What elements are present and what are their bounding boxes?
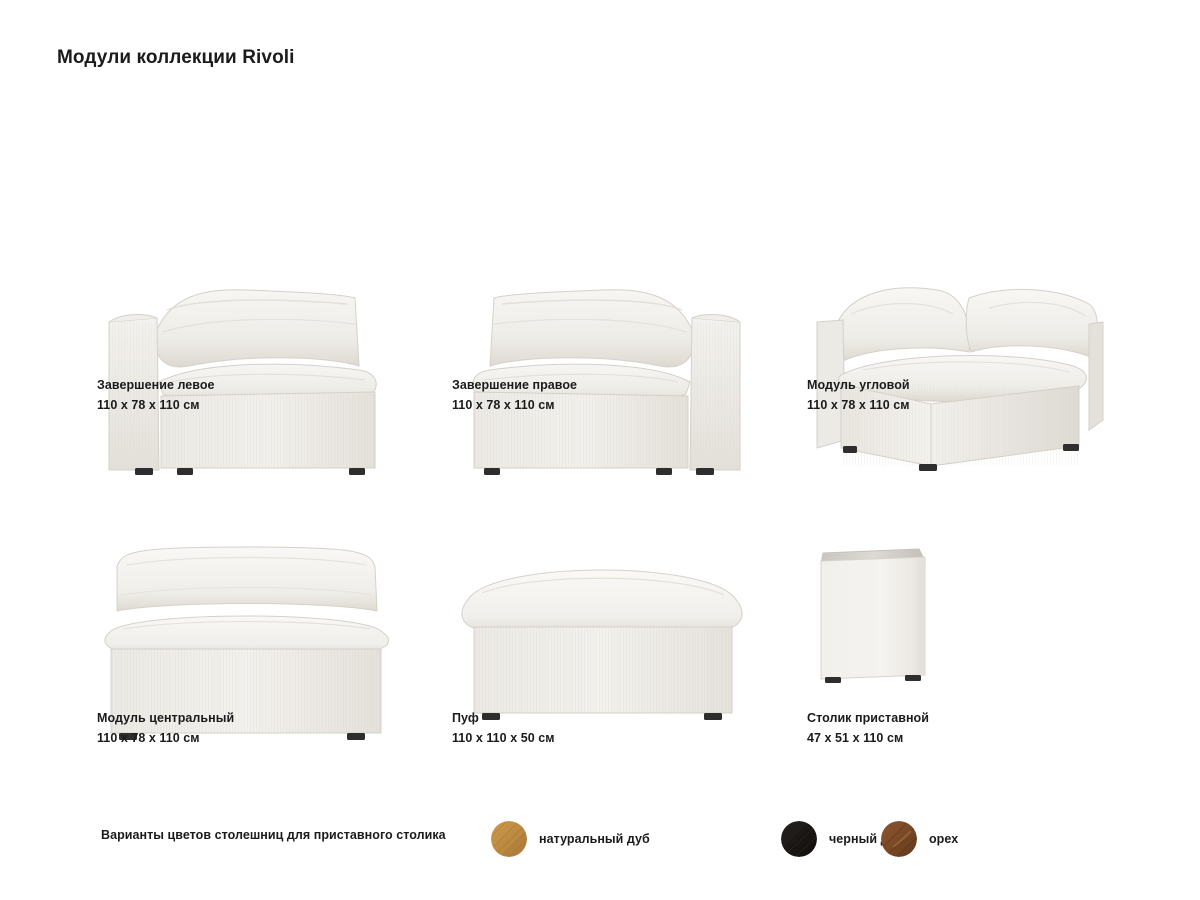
module-caption: Модуль угловой 110 x 78 x 110 см bbox=[807, 377, 1137, 414]
module-caption: Завершение правое 110 x 78 x 110 см bbox=[452, 377, 782, 414]
module-card-corner[interactable]: Модуль угловой 110 x 78 x 110 см bbox=[807, 150, 1107, 485]
module-caption: Столик приставной 47 x 51 x 110 см bbox=[807, 710, 1137, 747]
natural-oak-swatch-icon bbox=[491, 821, 527, 857]
module-dimensions: 110 x 78 x 110 см bbox=[807, 397, 1137, 414]
module-name: Модуль угловой bbox=[807, 377, 1137, 394]
swatch-label: орех bbox=[929, 832, 958, 846]
color-legend: Варианты цветов столешниц для приставног… bbox=[101, 818, 1101, 858]
module-name: Завершение правое bbox=[452, 377, 782, 394]
module-dimensions: 110 x 78 x 110 см bbox=[452, 397, 782, 414]
module-dimensions: 110 x 78 x 110 см bbox=[97, 730, 427, 747]
module-caption: Завершение левое 110 x 78 x 110 см bbox=[97, 377, 427, 414]
module-dimensions: 110 x 110 x 50 см bbox=[452, 730, 782, 747]
module-caption: Модуль центральный 110 x 78 x 110 см bbox=[97, 710, 427, 747]
module-card-ottoman[interactable]: Пуф 110 x 110 x 50 см bbox=[452, 485, 807, 750]
catalog-page: Модули коллекции Rivoli bbox=[0, 0, 1200, 900]
legend-label: Варианты цветов столешниц для приставног… bbox=[101, 828, 446, 842]
module-dimensions: 110 x 78 x 110 см bbox=[97, 397, 427, 414]
module-card-center[interactable]: Модуль центральный 110 x 78 x 110 см bbox=[97, 485, 452, 750]
module-name: Пуф bbox=[452, 710, 782, 727]
module-card-side-table[interactable]: Столик приставной 47 x 51 x 110 см bbox=[807, 485, 1107, 750]
module-name: Модуль центральный bbox=[97, 710, 427, 727]
module-card-left-end[interactable]: Завершение левое 110 x 78 x 110 см bbox=[97, 150, 452, 485]
modules-row-2: Модуль центральный 110 x 78 x 110 см bbox=[97, 485, 1107, 750]
walnut-swatch-icon bbox=[881, 821, 917, 857]
page-title: Модули коллекции Rivoli bbox=[57, 47, 295, 69]
module-dimensions: 47 x 51 x 110 см bbox=[807, 730, 1137, 747]
module-caption: Пуф 110 x 110 x 50 см bbox=[452, 710, 782, 747]
swatch-label: натуральный дуб bbox=[539, 832, 650, 846]
black-oak-swatch-icon bbox=[781, 821, 817, 857]
modules-grid: Завершение левое 110 x 78 x 110 см bbox=[97, 150, 1107, 750]
module-card-right-end[interactable]: Завершение правое 110 x 78 x 110 см bbox=[452, 150, 807, 485]
module-name: Столик приставной bbox=[807, 710, 1137, 727]
swatch-item-natural-oak[interactable]: натуральный дуб bbox=[491, 821, 650, 857]
module-name: Завершение левое bbox=[97, 377, 427, 394]
swatch-item-walnut[interactable]: орех bbox=[881, 821, 958, 857]
modules-row-1: Завершение левое 110 x 78 x 110 см bbox=[97, 150, 1107, 485]
